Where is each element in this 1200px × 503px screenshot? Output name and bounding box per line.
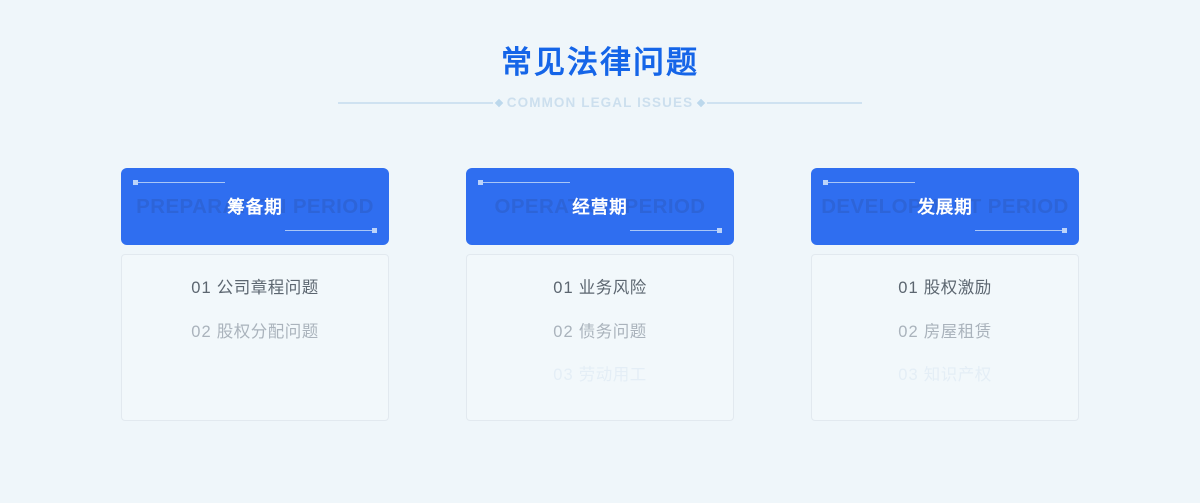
decorative-line-right bbox=[707, 102, 862, 104]
phase-item-label: 公司章程问题 bbox=[217, 279, 319, 297]
phase-item-label: 股权分配问题 bbox=[217, 323, 319, 341]
phase-card[interactable]: DEVELOPMENT PERIOD发展期01 股权激励02 房屋租赁03 知识… bbox=[811, 168, 1079, 421]
phase-item[interactable]: 03 知识产权 bbox=[898, 367, 991, 384]
phase-card-body: 01 公司章程问题02 股权分配问题 bbox=[121, 254, 389, 421]
phase-item-number: 02 bbox=[191, 323, 211, 341]
phase-card-header[interactable]: DEVELOPMENT PERIOD发展期 bbox=[811, 168, 1079, 245]
phase-card[interactable]: OPERATION PERIOD经营期01 业务风险02 债务问题03 劳动用工 bbox=[466, 168, 734, 421]
phase-item[interactable]: 02 房屋租赁 bbox=[898, 324, 991, 341]
phase-item-label: 知识产权 bbox=[924, 366, 992, 384]
phase-item[interactable]: 02 股权分配问题 bbox=[191, 324, 318, 341]
header-rule-top-icon bbox=[827, 182, 915, 183]
phase-card-header[interactable]: PREPARATION PERIOD筹备期 bbox=[121, 168, 389, 245]
phase-card[interactable]: PREPARATION PERIOD筹备期01 公司章程问题02 股权分配问题 bbox=[121, 168, 389, 421]
phase-item-label: 房屋租赁 bbox=[924, 323, 992, 341]
phase-item-number: 03 bbox=[898, 366, 918, 384]
phase-item-number: 03 bbox=[553, 366, 573, 384]
phase-title: 经营期 bbox=[572, 194, 628, 219]
header-rule-bottom-icon bbox=[285, 230, 373, 231]
phase-item[interactable]: 02 债务问题 bbox=[553, 324, 646, 341]
phase-item-number: 02 bbox=[553, 323, 573, 341]
subtitle-row: COMMON LEGAL ISSUES bbox=[0, 95, 1200, 110]
phase-item[interactable]: 01 股权激励 bbox=[898, 280, 991, 297]
phase-item-number: 02 bbox=[898, 323, 918, 341]
phase-item-number: 01 bbox=[553, 279, 573, 297]
page-title-block: 常见法律问题 COMMON LEGAL ISSUES bbox=[0, 0, 1200, 110]
page-subtitle: COMMON LEGAL ISSUES bbox=[507, 95, 693, 110]
cards-container: PREPARATION PERIOD筹备期01 公司章程问题02 股权分配问题O… bbox=[0, 168, 1200, 421]
phase-item-number: 01 bbox=[898, 279, 918, 297]
phase-item[interactable]: 01 公司章程问题 bbox=[191, 280, 318, 297]
phase-card-body: 01 股权激励02 房屋租赁03 知识产权 bbox=[811, 254, 1079, 421]
phase-item-number: 01 bbox=[191, 279, 211, 297]
page-title: 常见法律问题 bbox=[0, 44, 1200, 81]
header-rule-bottom-icon bbox=[975, 230, 1063, 231]
phase-item[interactable]: 01 业务风险 bbox=[553, 280, 646, 297]
phase-item-label: 股权激励 bbox=[924, 279, 992, 297]
phase-title: 发展期 bbox=[917, 194, 973, 219]
phase-item-label: 劳动用工 bbox=[579, 366, 647, 384]
phase-item[interactable]: 03 劳动用工 bbox=[553, 367, 646, 384]
phase-title: 筹备期 bbox=[227, 194, 283, 219]
phase-item-label: 业务风险 bbox=[579, 279, 647, 297]
phase-card-body: 01 业务风险02 债务问题03 劳动用工 bbox=[466, 254, 734, 421]
header-rule-bottom-icon bbox=[630, 230, 718, 231]
header-rule-top-icon bbox=[137, 182, 225, 183]
header-rule-top-icon bbox=[482, 182, 570, 183]
decorative-line-left bbox=[338, 102, 493, 104]
phase-card-header[interactable]: OPERATION PERIOD经营期 bbox=[466, 168, 734, 245]
phase-item-label: 债务问题 bbox=[579, 323, 647, 341]
